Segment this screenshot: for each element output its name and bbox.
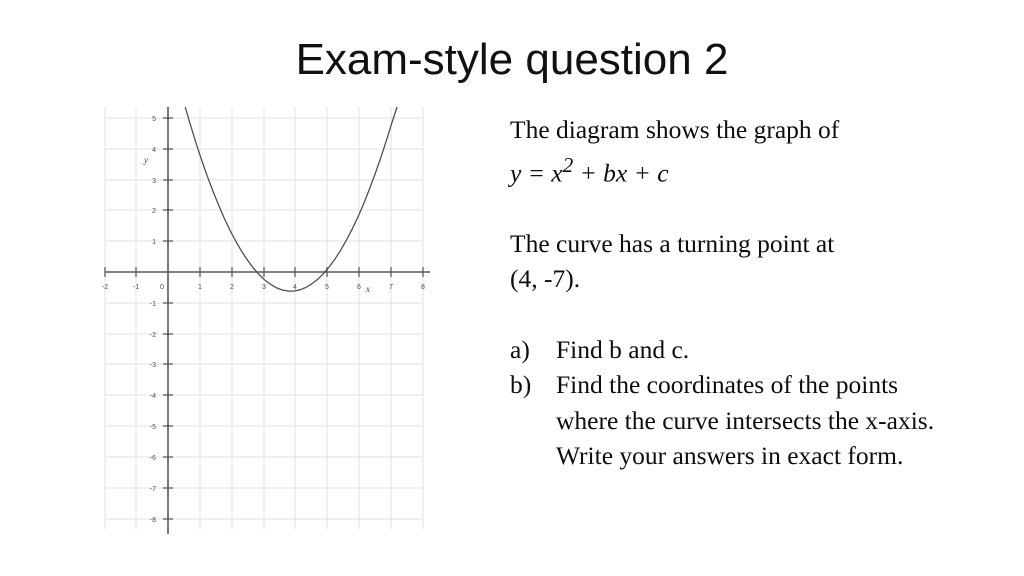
y-tick-label: -2 <box>150 332 156 339</box>
list-spacer <box>510 297 940 332</box>
y-tick-labels: 5 4 3 2 1 -1 -2 -3 -4 -5 -6 -7 -8 <box>150 116 156 524</box>
x-axis-label: x <box>365 284 370 294</box>
y-axis-label: y <box>143 155 148 165</box>
question-text-block: The diagram shows the graph of y = x2 + … <box>510 112 940 474</box>
y-tick-label: -7 <box>150 486 156 493</box>
x-tick-labels: -2 -1 0 1 2 3 4 5 6 7 8 <box>102 284 425 291</box>
list-item: a) Find b and c. <box>510 332 940 368</box>
equation-exponent: 2 <box>563 153 574 177</box>
grid-vertical <box>105 107 423 529</box>
question-equation: y = x2 + bx + c <box>510 148 940 191</box>
parabola-chart: -2 -1 0 1 2 3 4 5 6 7 8 5 4 3 2 1 -1 -2 <box>100 100 436 536</box>
y-tick-label: 2 <box>152 208 156 215</box>
x-tick-label: 2 <box>230 284 234 291</box>
slide-root: Exam-style question 2 <box>0 0 1024 576</box>
question-line-1: The diagram shows the graph of <box>510 112 940 148</box>
y-tick-label: -1 <box>150 301 156 308</box>
y-tick-label: 5 <box>152 116 156 123</box>
x-tick-label: -1 <box>133 284 139 291</box>
y-tick-label: 3 <box>152 178 156 185</box>
list-item-text: Find b and c. <box>556 332 940 368</box>
list-item-text: Find the coordinates of the points where… <box>556 367 940 474</box>
x-tick-label: 5 <box>325 284 329 291</box>
x-tick-label: 1 <box>198 284 202 291</box>
y-tick-label: -4 <box>150 393 156 400</box>
y-tick-label: -3 <box>150 362 156 369</box>
graph-figure: -2 -1 0 1 2 3 4 5 6 7 8 5 4 3 2 1 -1 -2 <box>100 100 436 536</box>
x-tick-label: 0 <box>160 284 164 291</box>
x-tick-label: -2 <box>102 284 108 291</box>
list-item-marker: b) <box>510 367 556 403</box>
question-line-4: (4, -7). <box>510 261 940 297</box>
x-tick-label: 7 <box>389 284 393 291</box>
page-title: Exam-style question 2 <box>0 34 1024 86</box>
y-tick-label: -5 <box>150 424 156 431</box>
equation-prefix: y = x <box>510 158 563 187</box>
parabola-curve <box>185 107 397 291</box>
question-list: a) Find b and c. b) Find the coordinates… <box>510 332 940 474</box>
paragraph-spacer <box>510 191 940 226</box>
x-tick-label: 3 <box>262 284 266 291</box>
list-item: b) Find the coordinates of the points wh… <box>510 367 940 474</box>
equation-suffix: + bx + c <box>573 158 668 187</box>
y-tick-label: 4 <box>152 147 156 154</box>
list-item-marker: a) <box>510 332 556 368</box>
x-tick-label: 6 <box>357 284 361 291</box>
x-tick-label: 8 <box>421 284 425 291</box>
y-tick-label: -8 <box>150 517 156 524</box>
y-tick-label: 1 <box>152 239 156 246</box>
y-tick-label: -6 <box>150 455 156 462</box>
question-line-3: The curve has a turning point at <box>510 226 940 262</box>
